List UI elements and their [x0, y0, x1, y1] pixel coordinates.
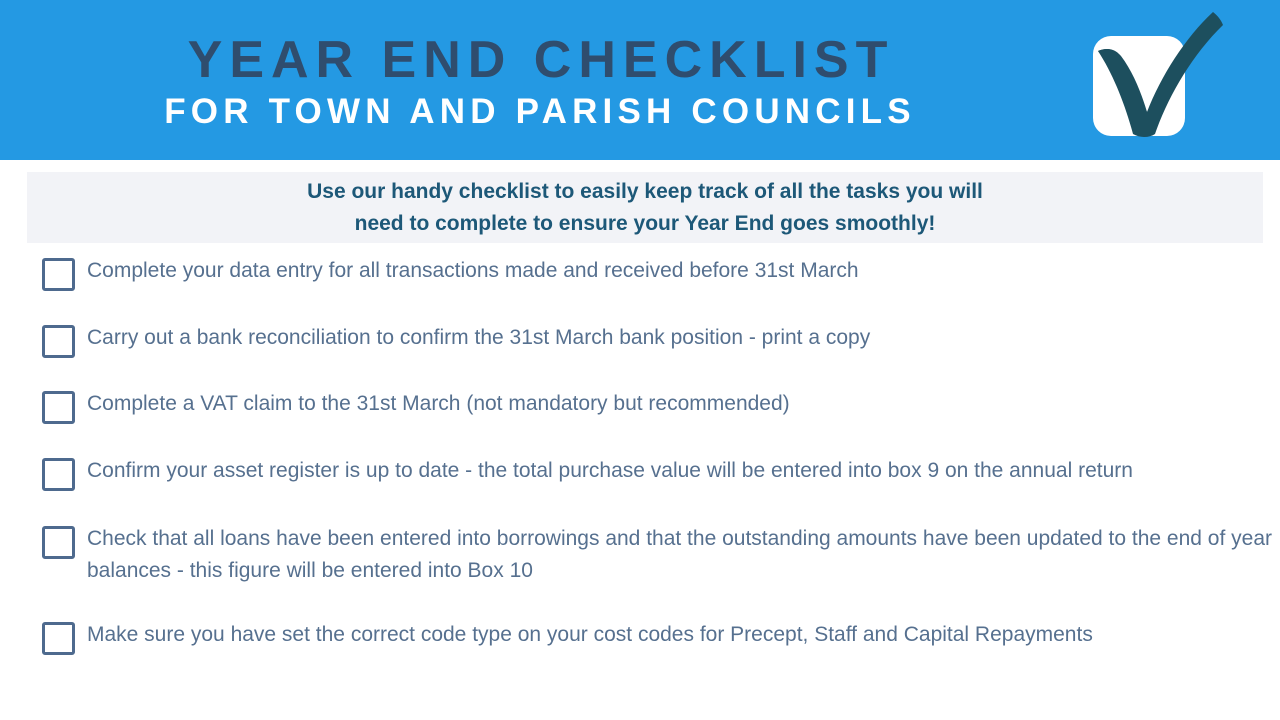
page-title: YEAR END CHECKLIST [181, 33, 895, 88]
empty-checkbox-icon[interactable] [42, 391, 75, 424]
checklist-item[interactable]: Complete a VAT claim to the 31st March (… [0, 388, 1280, 424]
header-text-block: YEAR END CHECKLIST FOR TOWN AND PARISH C… [0, 0, 1075, 160]
page-subtitle: FOR TOWN AND PARISH COUNCILS [159, 94, 916, 131]
checklist-item-label: Make sure you have set the correct code … [87, 619, 1093, 651]
page-header: YEAR END CHECKLIST FOR TOWN AND PARISH C… [0, 0, 1280, 160]
checklist-items: Complete your data entry for all transac… [0, 255, 1280, 655]
checklist-item-label: Check that all loans have been entered i… [87, 523, 1277, 587]
checklist-item-label: Carry out a bank reconciliation to confi… [87, 322, 870, 354]
checklist-item-label: Complete a VAT claim to the 31st March (… [87, 388, 790, 420]
checklist-item-label: Complete your data entry for all transac… [87, 255, 859, 287]
checklist-item-label: Confirm your asset register is up to dat… [87, 455, 1133, 487]
checklist-item[interactable]: Confirm your asset register is up to dat… [0, 455, 1280, 491]
empty-checkbox-icon[interactable] [42, 458, 75, 491]
empty-checkbox-icon[interactable] [42, 325, 75, 358]
checklist-page: YEAR END CHECKLIST FOR TOWN AND PARISH C… [0, 0, 1280, 720]
empty-checkbox-icon[interactable] [42, 526, 75, 559]
checkbox-tick-icon [1085, 4, 1225, 144]
checklist-item[interactable]: Make sure you have set the correct code … [0, 619, 1280, 655]
checklist-item[interactable]: Check that all loans have been entered i… [0, 523, 1280, 587]
empty-checkbox-icon[interactable] [42, 258, 75, 291]
intro-banner: Use our handy checklist to easily keep t… [27, 172, 1263, 243]
intro-line-1: Use our handy checklist to easily keep t… [307, 176, 983, 208]
empty-checkbox-icon[interactable] [42, 622, 75, 655]
checklist-item[interactable]: Carry out a bank reconciliation to confi… [0, 322, 1280, 358]
checklist-item[interactable]: Complete your data entry for all transac… [0, 255, 1280, 291]
intro-line-2: need to complete to ensure your Year End… [355, 208, 936, 240]
